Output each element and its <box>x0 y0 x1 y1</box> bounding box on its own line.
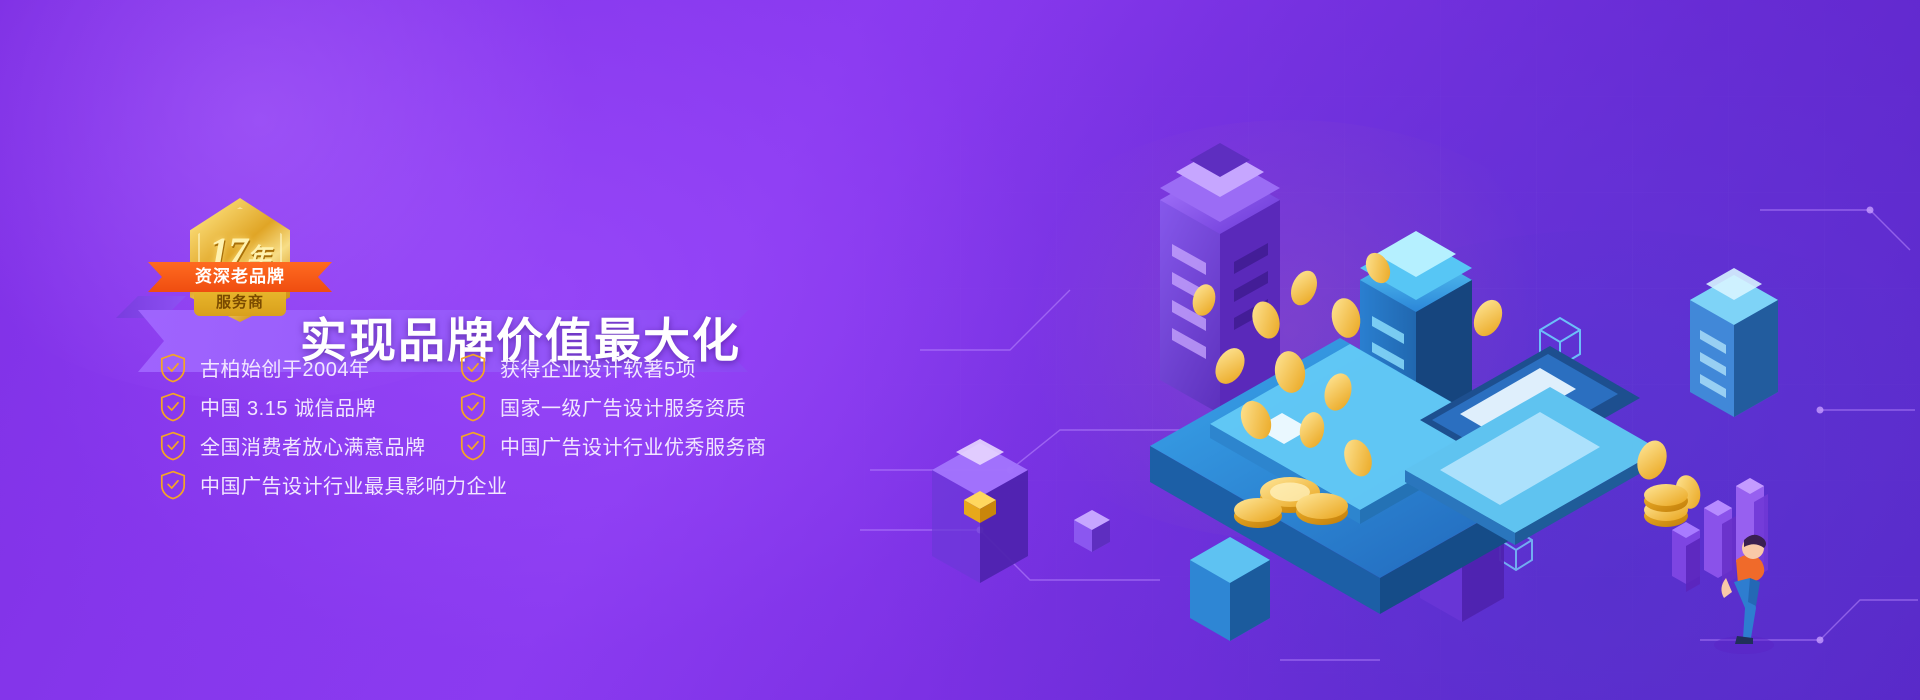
list-item-label: 全国消费者放心满意品牌 <box>200 431 426 460</box>
list-item-label: 获得企业设计软著5项 <box>500 353 696 382</box>
list-item-label: 中国广告设计行业最具影响力企业 <box>200 470 508 499</box>
list-item: 全国消费者放心满意品牌 <box>160 426 460 465</box>
list-item-label: 中国 3.15 诚信品牌 <box>200 392 376 421</box>
credentials-row-1: 古柏始创于2004年 获得企业设计软著5项 <box>160 348 860 387</box>
shield-check-icon <box>460 392 486 422</box>
anniversary-badge: 17年 服务商 资深老品牌 <box>176 198 304 348</box>
badge-ribbon-primary: 资深老品牌 <box>148 262 332 292</box>
list-item: 古柏始创于2004年 <box>160 348 460 387</box>
badge-ribbon-line2: 服务商 <box>194 290 286 316</box>
shield-check-icon <box>160 431 186 461</box>
credentials-row-4: 中国广告设计行业最具影响力企业 <box>160 465 860 504</box>
isometric-digital-finance-illustration <box>860 0 1920 700</box>
list-item: 国家一级广告设计服务资质 <box>460 387 800 426</box>
credentials-list: 古柏始创于2004年 获得企业设计软著5项 中国 3.15 诚信品牌 <box>160 348 860 504</box>
list-item-label: 国家一级广告设计服务资质 <box>500 392 746 421</box>
list-item: 中国广告设计行业优秀服务商 <box>460 426 800 465</box>
list-item: 中国 3.15 诚信品牌 <box>160 387 460 426</box>
shield-check-icon <box>160 470 186 500</box>
shield-check-icon <box>160 392 186 422</box>
list-item: 中国广告设计行业最具影响力企业 <box>160 465 680 504</box>
list-item-label: 古柏始创于2004年 <box>200 353 370 382</box>
shield-check-icon <box>460 431 486 461</box>
credentials-row-3: 全国消费者放心满意品牌 中国广告设计行业优秀服务商 <box>160 426 860 465</box>
promo-banner: 实现品牌价值最大化 17年 服务商 资深老品牌 古柏始创于2004年 <box>0 0 1920 700</box>
badge-ribbon-line1: 资深老品牌 <box>148 262 332 292</box>
credentials-row-2: 中国 3.15 诚信品牌 国家一级广告设计服务资质 <box>160 387 860 426</box>
banner-content: 实现品牌价值最大化 17年 服务商 资深老品牌 古柏始创于2004年 <box>0 0 900 700</box>
shield-check-icon <box>460 353 486 383</box>
list-item: 获得企业设计软著5项 <box>460 348 800 387</box>
shield-check-icon <box>160 353 186 383</box>
badge-ribbon-secondary: 服务商 <box>194 290 286 316</box>
list-item-label: 中国广告设计行业优秀服务商 <box>500 431 767 460</box>
